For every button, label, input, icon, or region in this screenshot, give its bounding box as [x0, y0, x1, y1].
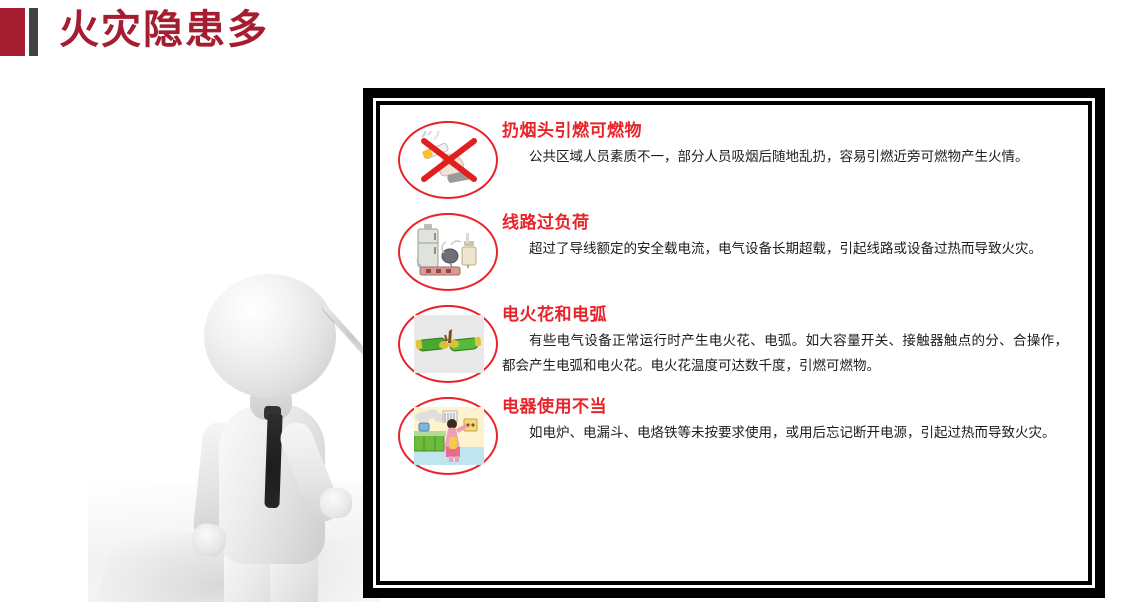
- frame-black-liner: 扔烟头引燃可燃物 公共区域人员素质不一，部分人员吸烟后随地乱扔，容易引燃近旁可燃…: [376, 101, 1092, 585]
- hazard-item-arc[interactable]: 电火花和电弧 有些电气设备正常运行时产生电火花、电弧。如大容量开关、接触器触点的…: [394, 301, 1074, 387]
- hazard-title: 扔烟头引燃可燃物: [502, 119, 1074, 143]
- hazard-icon-wrap: [394, 393, 502, 479]
- hazard-item-cigarette[interactable]: 扔烟头引燃可燃物 公共区域人员素质不一，部分人员吸烟后随地乱扔，容易引燃近旁可燃…: [394, 117, 1074, 203]
- circuit-overload-icon: [414, 223, 484, 281]
- hazard-icon-wrap: [394, 209, 502, 295]
- hazard-title: 电器使用不当: [502, 395, 1074, 419]
- content-frame: 扔烟头引燃可燃物 公共区域人员素质不一，部分人员吸烟后随地乱扔，容易引燃近旁可燃…: [363, 88, 1105, 598]
- electric-arc-wire-icon: [414, 315, 484, 373]
- header-accent-bar-gray: [29, 8, 38, 56]
- frame-white-mat: 扔烟头引燃可燃物 公共区域人员素质不一，部分人员吸烟后随地乱扔，容易引燃近旁可燃…: [373, 98, 1095, 588]
- hazard-text-block: 电火花和电弧 有些电气设备正常运行时产生电火花、电弧。如大容量开关、接触器触点的…: [502, 301, 1074, 379]
- hazard-icon-wrap: [394, 301, 502, 387]
- hazard-item-appliance[interactable]: 电器使用不当 如电炉、电漏斗、电烙铁等未按要求使用，或用后忘记断开电源，引起过热…: [394, 393, 1074, 479]
- appliance-misuse-icon: [414, 407, 484, 465]
- hazard-text-block: 电器使用不当 如电炉、电漏斗、电烙铁等未按要求使用，或用后忘记断开电源，引起过热…: [502, 393, 1074, 446]
- hazard-title: 线路过负荷: [502, 211, 1074, 235]
- page-title: 火灾隐患多: [59, 4, 269, 56]
- hazard-title: 电火花和电弧: [502, 303, 1074, 327]
- hazard-list: 扔烟头引燃可燃物 公共区域人员素质不一，部分人员吸烟后随地乱扔，容易引燃近旁可燃…: [380, 105, 1088, 485]
- mannequin-head: [204, 274, 336, 398]
- hazard-icon-wrap: [394, 117, 502, 203]
- hazard-description: 如电炉、电漏斗、电烙铁等未按要求使用，或用后忘记断开电源，引起过热而导致火灾。: [502, 421, 1074, 446]
- hazard-description: 超过了导线额定的安全载电流，电气设备长期超载，引起线路或设备过热而导致火灾。: [502, 237, 1074, 262]
- hazard-description: 有些电气设备正常运行时产生电火花、电弧。如大容量开关、接触器触点的分、合操作，都…: [502, 329, 1074, 379]
- mannequin-right-hand: [320, 488, 352, 518]
- hazard-item-overload[interactable]: 线路过负荷 超过了导线额定的安全载电流，电气设备长期超载，引起线路或设备过热而导…: [394, 209, 1074, 295]
- hazard-text-block: 线路过负荷 超过了导线额定的安全载电流，电气设备长期超载，引起线路或设备过热而导…: [502, 209, 1074, 262]
- mannequin-figure: [88, 84, 380, 602]
- presenter-photo: [88, 84, 380, 602]
- hazard-description: 公共区域人员素质不一，部分人员吸烟后随地乱扔，容易引燃近旁可燃物产生火情。: [502, 145, 1074, 170]
- slide-header: 火灾隐患多: [0, 0, 1131, 66]
- slide-root: 火灾隐患多: [0, 0, 1131, 612]
- no-smoking-icon: [414, 131, 484, 189]
- frame-content-area: 扔烟头引燃可燃物 公共区域人员素质不一，部分人员吸烟后随地乱扔，容易引燃近旁可燃…: [380, 105, 1088, 581]
- header-accent-bar-red: [0, 8, 25, 56]
- hazard-text-block: 扔烟头引燃可燃物 公共区域人员素质不一，部分人员吸烟后随地乱扔，容易引燃近旁可燃…: [502, 117, 1074, 170]
